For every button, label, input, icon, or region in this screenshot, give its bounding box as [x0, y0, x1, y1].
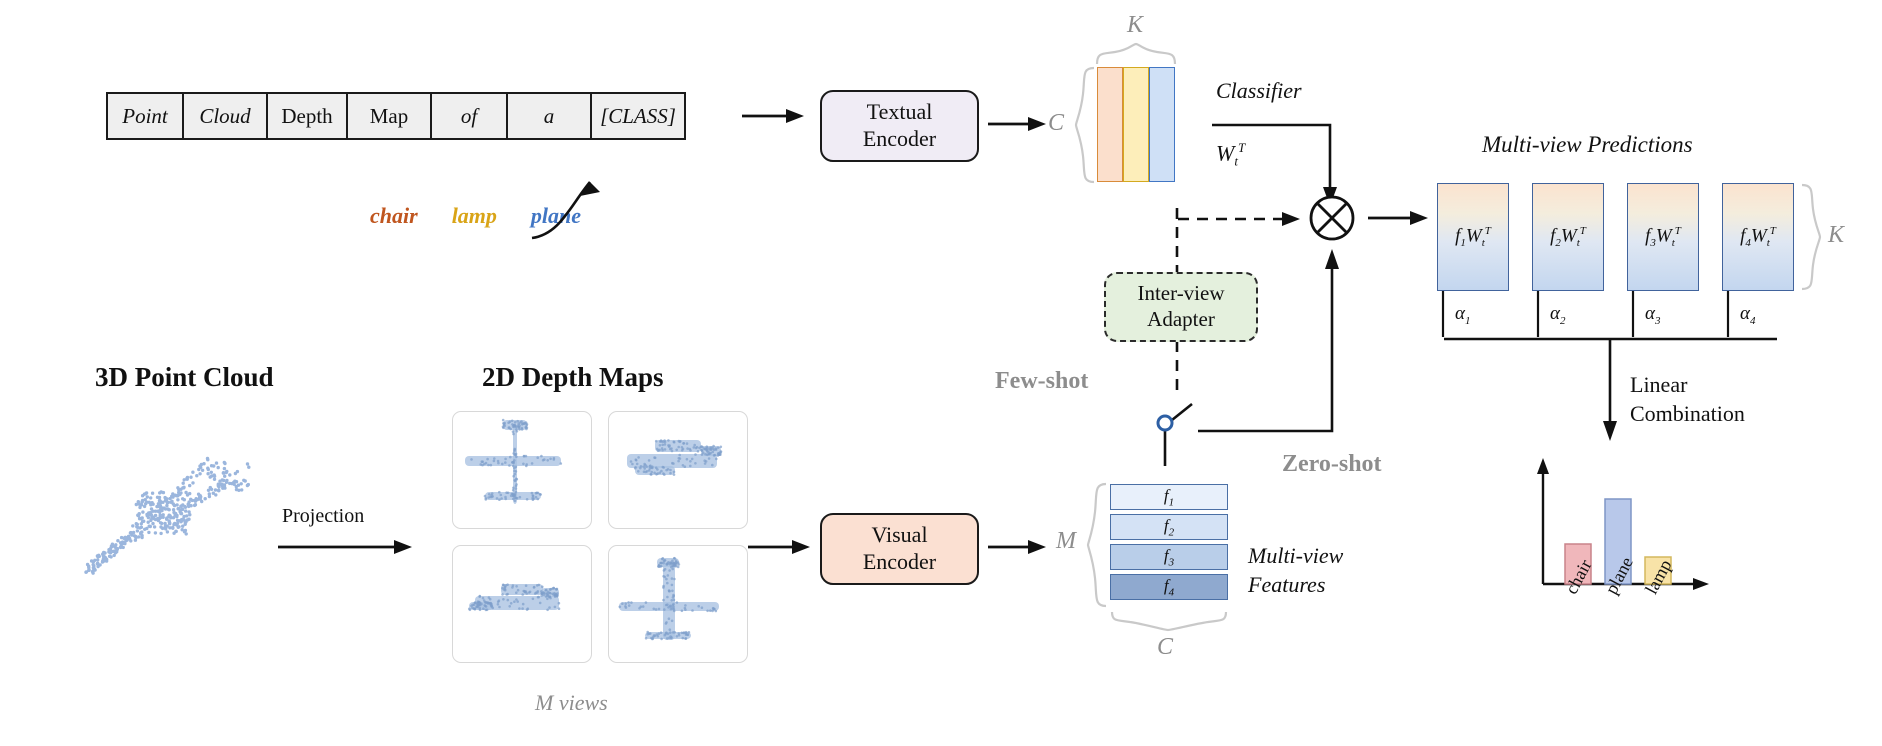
point [213, 474, 216, 477]
prompt-token-2[interactable]: Depth [268, 94, 348, 138]
m-views-label: M views [535, 690, 608, 716]
alpha-connector-2: α2 [1532, 291, 1627, 343]
classifier-matrix [1097, 67, 1175, 182]
point [180, 504, 183, 507]
point [109, 548, 112, 551]
features-c-label: C [1157, 634, 1173, 661]
point [140, 526, 143, 529]
zero-shot-label: Zero-shot [1282, 451, 1382, 478]
arrow-adapter-to-multiply [1178, 208, 1306, 230]
depth-map-tile-view-side-right[interactable] [608, 411, 748, 529]
linear-combination-label: Linear Combination [1630, 371, 1745, 428]
point [225, 479, 228, 482]
prediction-bar-chart: chairplanelamp [1525, 458, 1715, 608]
point [119, 546, 122, 549]
point [114, 543, 117, 546]
point [147, 531, 150, 534]
class-word-chair[interactable]: chair [370, 203, 418, 229]
point [237, 489, 240, 492]
class-word-lamp[interactable]: lamp [452, 203, 497, 229]
alpha-connector-1: α1 [1437, 291, 1532, 343]
class-to-token-arrow [524, 150, 654, 242]
point [138, 517, 141, 520]
point [133, 534, 136, 537]
point [209, 475, 212, 478]
prompt-token-1[interactable]: Cloud [184, 94, 268, 138]
point [176, 498, 179, 501]
arrow-prompt-to-textual-encoder [742, 105, 808, 127]
prompt-token-6[interactable]: [CLASS] [592, 94, 684, 138]
point [235, 480, 238, 483]
alpha-connector-3: α3 [1627, 291, 1722, 343]
depth-map-grid [452, 411, 748, 663]
point [141, 494, 144, 497]
alpha-label-2: α2 [1550, 303, 1565, 327]
point [141, 500, 144, 503]
point [122, 537, 125, 540]
point [247, 483, 250, 486]
point [184, 491, 187, 494]
point [228, 482, 231, 485]
point [188, 513, 191, 516]
classifier-k-label: K [1127, 12, 1143, 39]
point [176, 486, 179, 489]
point [165, 500, 168, 503]
depth-map-tile-view-front[interactable] [608, 545, 748, 663]
point [188, 484, 191, 487]
point [135, 525, 138, 528]
point [143, 528, 146, 531]
point [197, 468, 200, 471]
point [185, 532, 188, 535]
point [177, 507, 180, 510]
multi-view-predictions-row: f1WtTf2WtTf3WtTf4WtT [1437, 183, 1794, 291]
arrow-depthmaps-to-visual-encoder [748, 536, 814, 558]
point-cloud-scatter [58, 440, 278, 600]
point [223, 475, 226, 478]
point [228, 473, 231, 476]
point [191, 471, 194, 474]
point [155, 505, 158, 508]
point [179, 488, 182, 491]
point [183, 498, 186, 501]
point [161, 501, 164, 504]
multi-view-feature-stack: f1f2f3f4 [1110, 484, 1228, 600]
depth-silhouette [453, 412, 592, 529]
point [213, 478, 216, 481]
point [197, 493, 200, 496]
point [102, 558, 105, 561]
point [151, 503, 154, 506]
classifier-c-label: C [1048, 110, 1064, 137]
point [240, 482, 243, 485]
prediction-box-3: f3WtT [1627, 183, 1699, 291]
point [165, 518, 168, 521]
textual-encoder-line1: Textual [867, 99, 933, 126]
textual-encoder-line2: Encoder [863, 126, 936, 153]
point [184, 509, 187, 512]
arrow-visual-encoder-to-features [988, 536, 1050, 558]
point [202, 462, 205, 465]
point [236, 470, 239, 473]
point [235, 485, 238, 488]
point [168, 514, 171, 517]
point [184, 529, 187, 532]
point [87, 566, 90, 569]
prompt-token-5[interactable]: a [508, 94, 592, 138]
point [166, 507, 169, 510]
point [93, 568, 96, 571]
point [183, 505, 186, 508]
point [176, 519, 179, 522]
point [187, 503, 190, 506]
point [207, 468, 210, 471]
point [138, 506, 141, 509]
point-cloud-heading: 3D Point Cloud [95, 362, 274, 393]
point [96, 558, 99, 561]
point [208, 492, 211, 495]
point [111, 543, 114, 546]
depth-silhouette [609, 546, 748, 663]
prompt-template-row: PointCloudDepthMapofa[CLASS] [106, 92, 686, 140]
depth-silhouette [609, 412, 748, 529]
point [170, 495, 173, 498]
point [158, 496, 161, 499]
point [222, 479, 225, 482]
point [246, 462, 249, 465]
depth-map-tile-view-side-left[interactable] [452, 545, 592, 663]
point [144, 492, 147, 495]
point [177, 526, 180, 529]
point [168, 526, 171, 529]
point [154, 531, 157, 534]
point [209, 486, 212, 489]
point [162, 513, 165, 516]
point [158, 499, 161, 502]
point [206, 458, 209, 461]
point [223, 467, 226, 470]
point [182, 486, 185, 489]
brace-c-features [1110, 610, 1230, 632]
point [218, 480, 221, 483]
features-m-label: M [1056, 528, 1076, 555]
alpha-connector-4: α4 [1722, 291, 1817, 343]
point [159, 532, 162, 535]
point [115, 550, 118, 553]
point [175, 494, 178, 497]
prompt-token-4[interactable]: of [432, 94, 508, 138]
point [166, 530, 169, 533]
point [186, 518, 189, 521]
point [225, 470, 228, 473]
brace-k-predictions [1800, 183, 1822, 293]
point [198, 472, 201, 475]
point [149, 519, 152, 522]
point [210, 464, 213, 467]
arrow-multiply-to-predictions [1368, 207, 1434, 229]
point [217, 489, 220, 492]
point [172, 508, 175, 511]
feature-bar-3: f3 [1110, 544, 1228, 570]
arrow-textual-encoder-to-classifier [988, 113, 1050, 135]
point [168, 521, 171, 524]
point [144, 502, 147, 505]
point [141, 510, 144, 513]
point [176, 522, 179, 525]
point [189, 476, 192, 479]
point [136, 514, 139, 517]
point [148, 501, 151, 504]
point [92, 563, 95, 566]
classifier-column-2 [1149, 67, 1175, 182]
few-shot-label: Few-shot [995, 368, 1088, 395]
point [218, 483, 221, 486]
point [96, 562, 99, 565]
point [121, 540, 124, 543]
point [215, 461, 218, 464]
point [179, 491, 182, 494]
point [183, 478, 186, 481]
point [172, 516, 175, 519]
point [160, 509, 163, 512]
feature-bar-4: f4 [1110, 574, 1228, 600]
point [223, 486, 226, 489]
point [164, 526, 167, 529]
point [212, 492, 215, 495]
point [191, 481, 194, 484]
matrix-multiply-icon [1306, 192, 1358, 244]
depth-maps-heading: 2D Depth Maps [482, 362, 664, 393]
alpha-label-1: α1 [1455, 303, 1470, 327]
point [193, 504, 196, 507]
prediction-box-1: f1WtT [1437, 183, 1509, 291]
point [98, 555, 101, 558]
brace-m-features [1086, 482, 1108, 608]
point [206, 472, 209, 475]
alpha-label-4: α4 [1740, 303, 1755, 327]
point [179, 520, 182, 523]
point [149, 512, 152, 515]
classifier-column-0 [1097, 67, 1123, 182]
prompt-token-0[interactable]: Point [108, 94, 184, 138]
point [102, 551, 105, 554]
point [159, 514, 162, 517]
point [222, 471, 225, 474]
projection-label: Projection [282, 505, 364, 528]
point [149, 496, 152, 499]
point [140, 536, 143, 539]
point [171, 527, 174, 530]
point [199, 497, 202, 500]
arrow-projection [278, 536, 418, 558]
visual-encoder-line2: Encoder [863, 549, 936, 576]
point [242, 479, 245, 482]
point [154, 518, 157, 521]
point [160, 490, 163, 493]
point [136, 529, 139, 532]
point [163, 522, 166, 525]
point [153, 525, 156, 528]
point [129, 531, 132, 534]
prediction-box-4: f4WtT [1722, 183, 1794, 291]
textual-encoder-box[interactable]: Textual Encoder [820, 90, 979, 162]
point [135, 522, 138, 525]
point [201, 469, 204, 472]
alpha-label-3: α3 [1645, 303, 1660, 327]
classifier-name-label: Classifier [1216, 78, 1302, 104]
point [131, 524, 134, 527]
predictions-heading: Multi-view Predictions [1482, 132, 1693, 158]
point [223, 462, 226, 465]
point [210, 471, 213, 474]
features-caption: Multi-view Features [1248, 542, 1343, 599]
point [139, 532, 142, 535]
point [141, 520, 144, 523]
brace-k-classifier [1095, 42, 1181, 66]
point [193, 499, 196, 502]
point [108, 555, 111, 558]
point [182, 482, 185, 485]
point [173, 522, 176, 525]
point [214, 488, 217, 491]
point [159, 525, 162, 528]
point [146, 495, 149, 498]
brace-c-classifier [1074, 66, 1096, 184]
point [116, 539, 119, 542]
depth-map-tile-view-top[interactable] [452, 411, 592, 529]
feature-bar-2: f2 [1110, 514, 1228, 540]
point [150, 507, 153, 510]
prediction-box-2: f2WtT [1532, 183, 1604, 291]
point [198, 464, 201, 467]
predictions-k-label: K [1828, 222, 1844, 249]
point [195, 474, 198, 477]
point [135, 503, 138, 506]
feature-bar-1: f1 [1110, 484, 1228, 510]
point [217, 466, 220, 469]
prompt-token-3[interactable]: Map [348, 94, 432, 138]
point [151, 522, 154, 525]
point [116, 547, 119, 550]
depth-silhouette [453, 546, 592, 663]
point [204, 497, 207, 500]
point [137, 535, 140, 538]
point [247, 466, 250, 469]
zero-shot-connector [1165, 245, 1340, 440]
visual-encoder-line1: Visual [871, 522, 927, 549]
point [182, 515, 185, 518]
classifier-column-1 [1123, 67, 1149, 182]
point [165, 504, 168, 507]
visual-encoder-box[interactable]: Visual Encoder [820, 513, 979, 585]
point [180, 507, 183, 510]
point [174, 530, 177, 533]
point [175, 514, 178, 517]
point [151, 492, 154, 495]
point [175, 503, 178, 506]
